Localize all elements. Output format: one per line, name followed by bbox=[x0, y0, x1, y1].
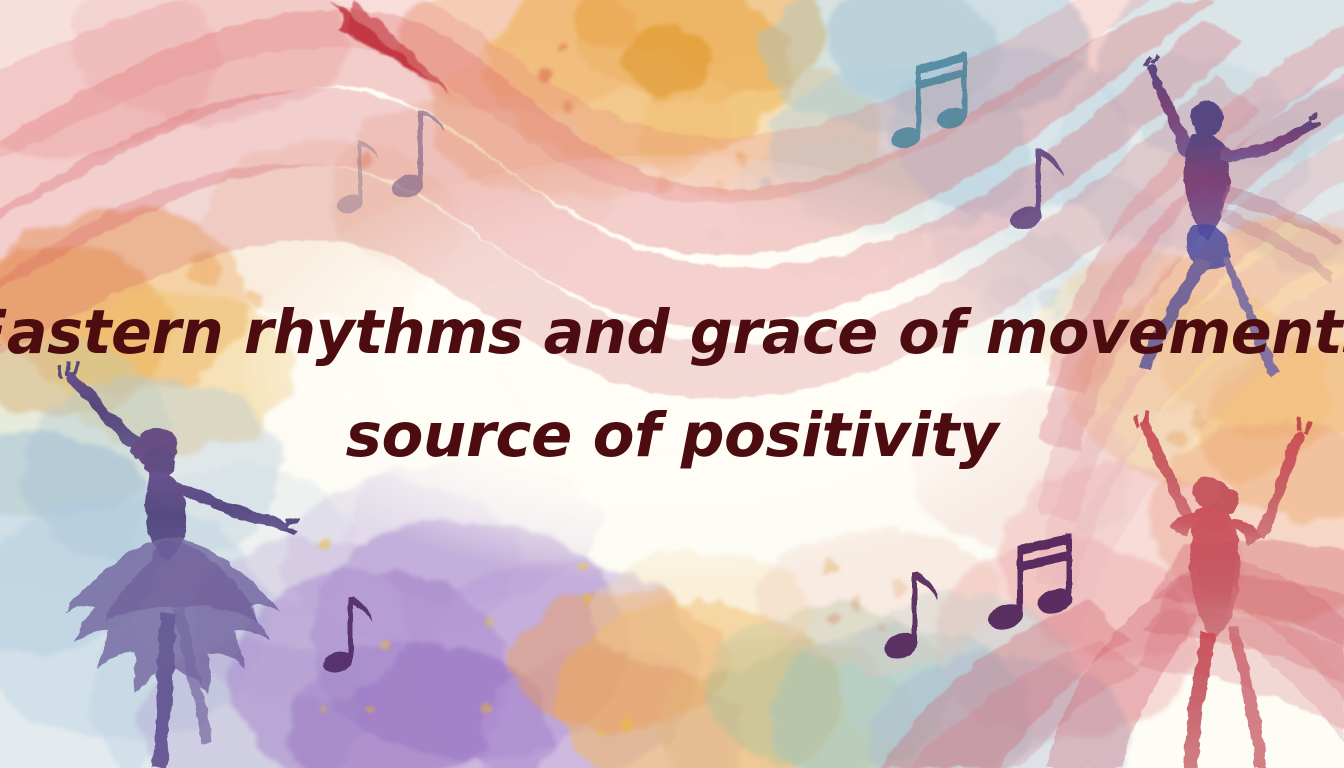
music-note-bottom-center-beamed bbox=[985, 533, 1076, 634]
music-note-top-right-beamed bbox=[889, 52, 970, 152]
music-note-bottom-center-single bbox=[881, 572, 938, 663]
watercolor-poster: Eastern rhythms and grace of movements s… bbox=[0, 0, 1344, 768]
dancer-bottom-right bbox=[1048, 411, 1344, 768]
music-note-top-left-second bbox=[389, 110, 445, 201]
figures-layer bbox=[0, 0, 1344, 768]
music-note-bottom-left-single bbox=[321, 597, 373, 676]
music-note-top-right-single bbox=[1007, 148, 1063, 233]
music-note-top-left-pair bbox=[335, 141, 378, 217]
dancer-bottom-left-ballerina bbox=[56, 362, 298, 768]
dancer-top-right bbox=[1140, 54, 1342, 378]
